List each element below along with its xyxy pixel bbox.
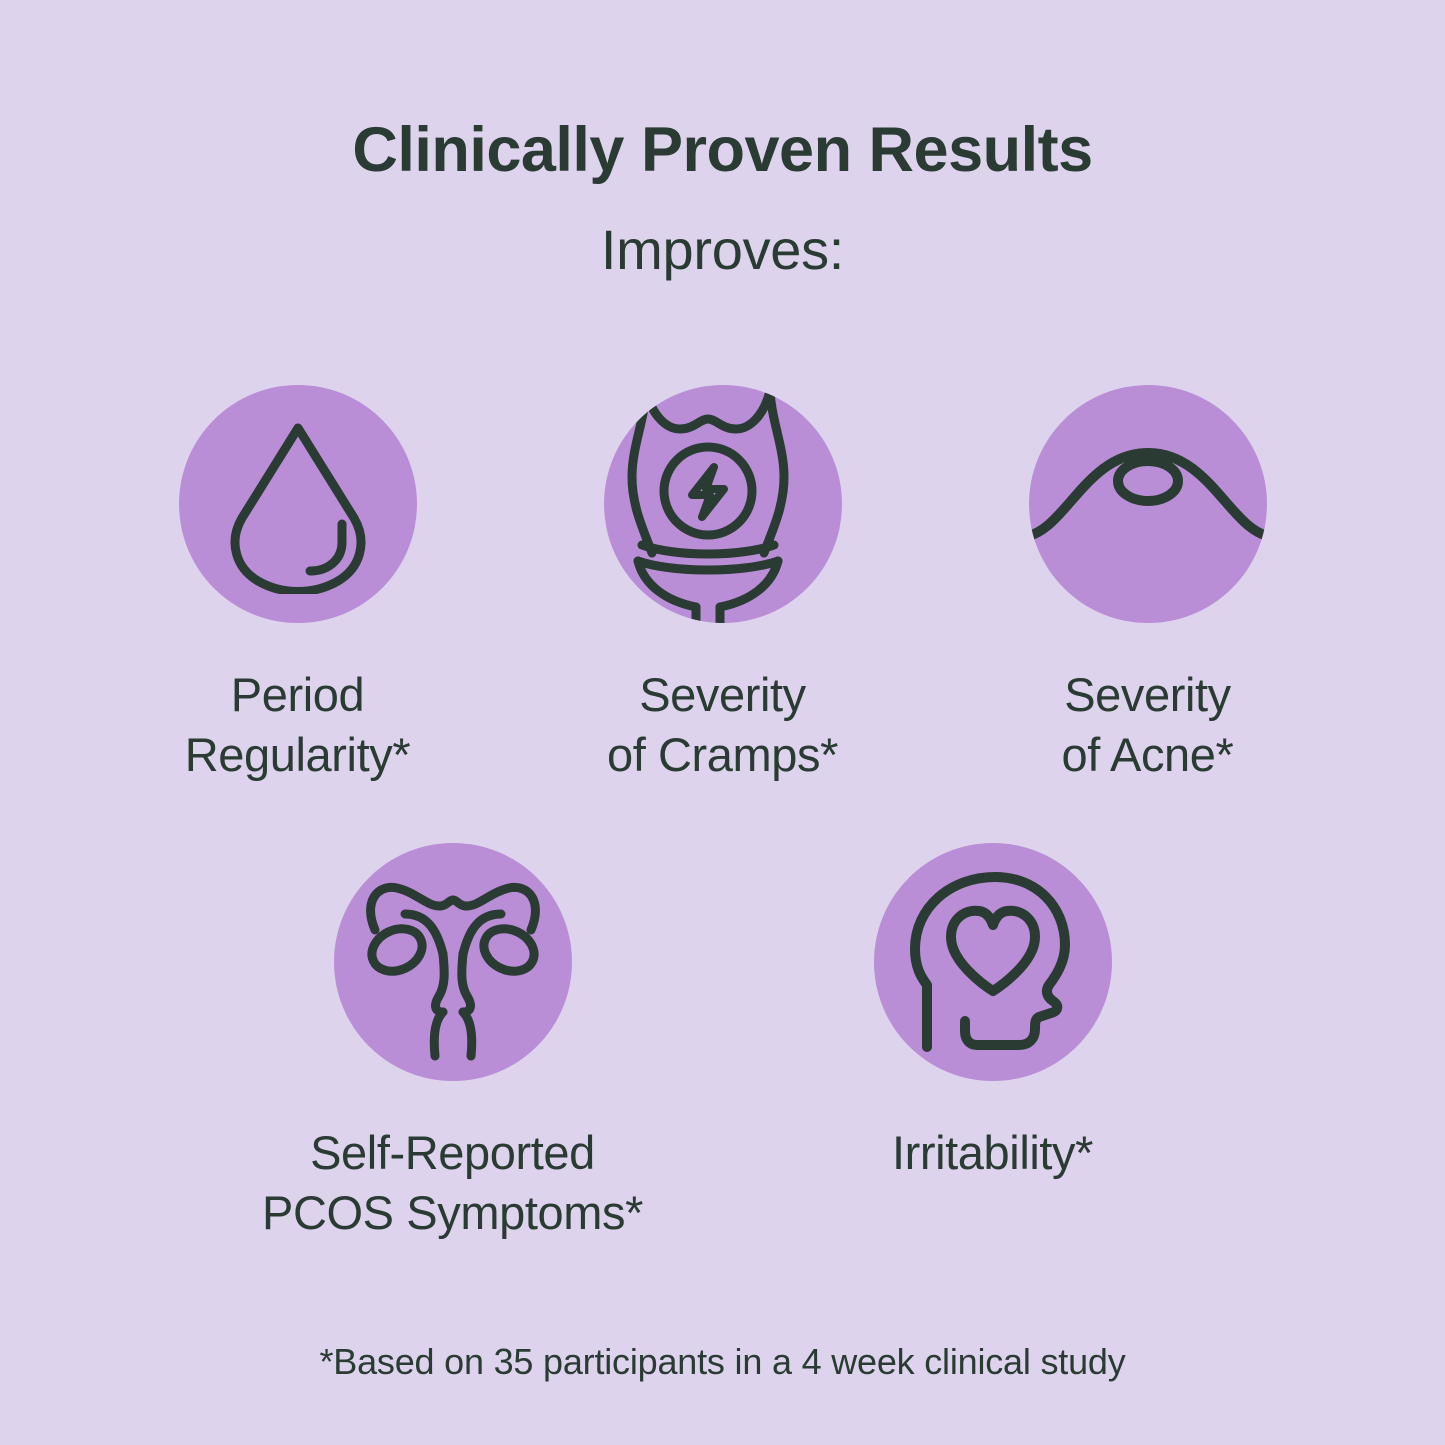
benefit-item-period-regularity: Period Regularity* <box>85 385 510 785</box>
torso-cramps-icon <box>618 385 828 623</box>
benefit-icon-circle <box>604 385 842 623</box>
benefit-item-severity-of-cramps: Severity of Cramps* <box>510 385 935 785</box>
page-title: Clinically Proven Results <box>0 118 1445 182</box>
benefit-icon-circle <box>1029 385 1267 623</box>
head-heart-icon <box>903 867 1083 1057</box>
benefits-row-bottom: Self-Reported PCOS Symptoms* Irritabilit… <box>0 843 1445 1243</box>
infographic-page: Clinically Proven Results Improves: Peri… <box>0 0 1445 1445</box>
acne-skin-bump-icon <box>1029 385 1267 623</box>
benefit-icon-circle <box>874 843 1112 1081</box>
benefit-label: Period Regularity* <box>185 665 410 785</box>
benefits-row-top: Period Regularity* <box>0 385 1445 785</box>
benefit-icon-circle <box>179 385 417 623</box>
benefit-label: Irritability* <box>892 1123 1093 1183</box>
benefit-label: Self-Reported PCOS Symptoms* <box>262 1123 643 1243</box>
water-droplet-icon <box>218 414 378 594</box>
page-subtitle: Improves: <box>0 222 1445 278</box>
uterus-icon <box>353 862 553 1062</box>
benefit-item-pcos-symptoms: Self-Reported PCOS Symptoms* <box>183 843 723 1243</box>
header-block: Clinically Proven Results Improves: <box>0 118 1445 278</box>
study-footnote: *Based on 35 participants in a 4 week cl… <box>0 1341 1445 1383</box>
benefit-label: Severity of Cramps* <box>607 665 838 785</box>
benefit-item-irritability: Irritability* <box>723 843 1263 1183</box>
benefit-label: Severity of Acne* <box>1062 665 1234 785</box>
benefit-item-severity-of-acne: Severity of Acne* <box>935 385 1360 785</box>
benefit-icon-circle <box>334 843 572 1081</box>
benefits-grid: Period Regularity* <box>0 385 1445 1244</box>
